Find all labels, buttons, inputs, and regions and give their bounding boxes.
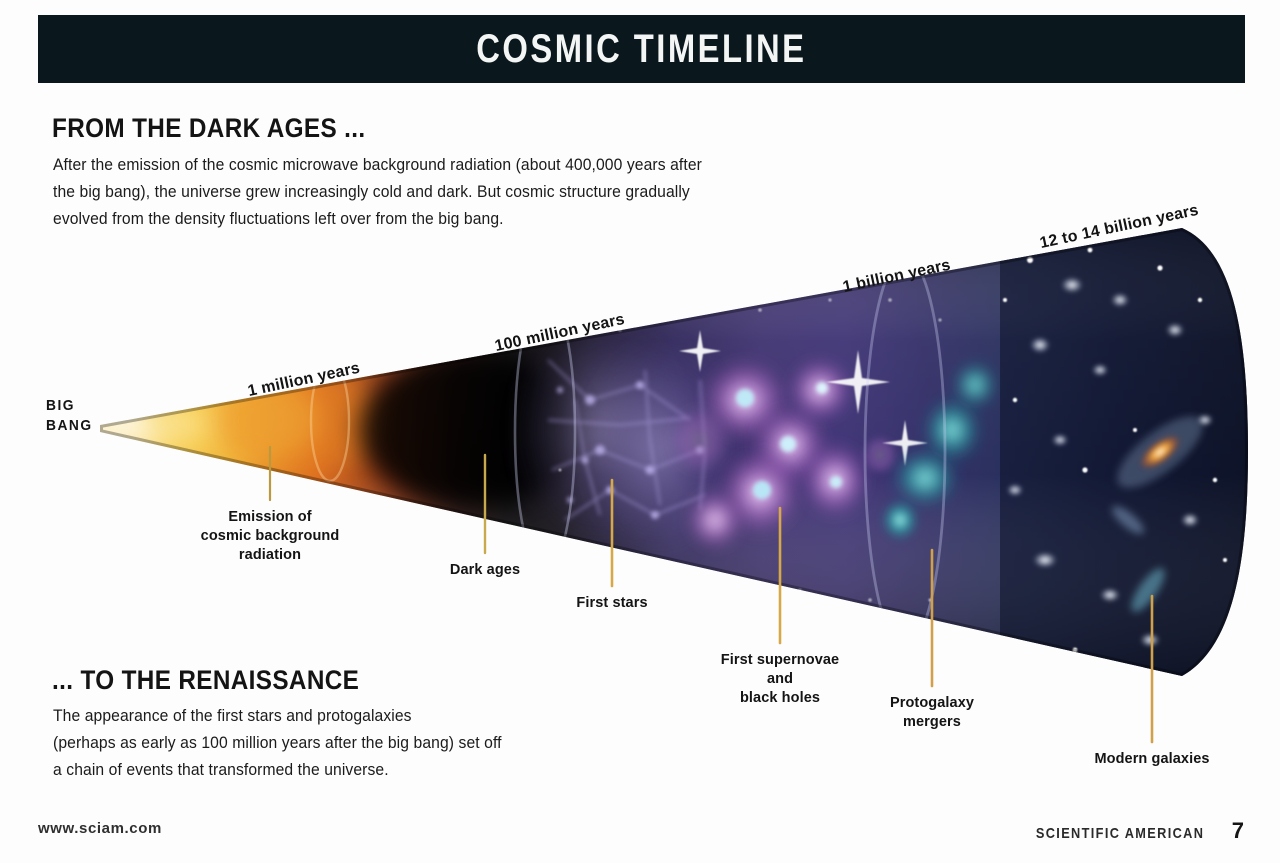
callout-line: cosmic background xyxy=(201,527,340,546)
cross-section-rings xyxy=(311,256,945,648)
big-bang-line-2: BANG xyxy=(46,416,93,436)
callout-line: First stars xyxy=(576,594,647,613)
callout-first-stars: First stars xyxy=(576,594,647,613)
outro-paragraph: The appearance of the first stars and pr… xyxy=(53,703,502,784)
page-number: 7 xyxy=(1232,818,1244,844)
title-bar: COSMIC TIMELINE xyxy=(38,15,1245,83)
outro-line: (perhaps as early as 100 million years a… xyxy=(53,730,502,757)
intro-line: the big bang), the universe grew increas… xyxy=(53,179,702,206)
big-bang-line-1: BIG xyxy=(46,396,93,416)
callout-line: Protogalaxy xyxy=(890,694,974,713)
cosmic-web-region xyxy=(510,310,740,565)
callout-line: black holes xyxy=(721,689,839,708)
callout-line: radiation xyxy=(201,546,340,565)
cone-body xyxy=(55,200,1260,700)
era-label-100-million-years: 100 million years xyxy=(493,311,626,356)
outro-line: a chain of events that transformed the u… xyxy=(53,757,502,784)
protogalaxy-region xyxy=(862,361,997,542)
callout-line: First supernovae xyxy=(721,651,839,670)
callout-emission-of-cosmic-background-radiation: Emission of cosmic background radiation xyxy=(201,508,340,565)
callout-dark-ages: Dark ages xyxy=(450,561,520,580)
big-bang-label: BIG BANG xyxy=(46,396,93,436)
star-dust xyxy=(559,298,942,602)
era-label-1-billion-years: 1 billion years xyxy=(841,257,952,297)
page-canvas: COSMIC TIMELINE xyxy=(0,0,1280,863)
outro-line: The appearance of the first stars and pr… xyxy=(53,703,502,730)
first-stars-region xyxy=(670,330,928,552)
intro-line: evolved from the density fluctuations le… xyxy=(53,206,702,233)
callout-line: Dark ages xyxy=(450,561,520,580)
callout-protogalaxy-mergers: Protogalaxy mergers xyxy=(890,694,974,732)
callout-line: and xyxy=(721,670,839,689)
intro-heading: FROM THE DARK AGES ... xyxy=(52,113,365,144)
callout-line: mergers xyxy=(890,713,974,732)
page-title: COSMIC TIMELINE xyxy=(476,27,806,72)
callout-modern-galaxies: Modern galaxies xyxy=(1094,750,1209,769)
intro-paragraph: After the emission of the cosmic microwa… xyxy=(53,152,702,233)
era-label-12-to-14-billion-years: 12 to 14 billion years xyxy=(1038,202,1200,253)
publication-name: SCIENTIFIC AMERICAN xyxy=(1035,825,1203,842)
footer-branding: SCIENTIFIC AMERICAN 7 xyxy=(1021,818,1244,844)
callout-leader-lines xyxy=(270,447,1152,742)
intro-line: After the emission of the cosmic microwa… xyxy=(53,152,702,179)
callout-line: Emission of xyxy=(201,508,340,527)
modern-galaxies-region xyxy=(1000,210,1260,690)
era-label-1-million-years: 1 million years xyxy=(246,360,361,401)
footer-url[interactable]: www.sciam.com xyxy=(38,820,162,837)
callout-first-supernovae-and-black-holes: First supernovae and black holes xyxy=(721,651,839,708)
callout-line: Modern galaxies xyxy=(1094,750,1209,769)
outro-heading: ... TO THE RENAISSANCE xyxy=(52,665,359,696)
